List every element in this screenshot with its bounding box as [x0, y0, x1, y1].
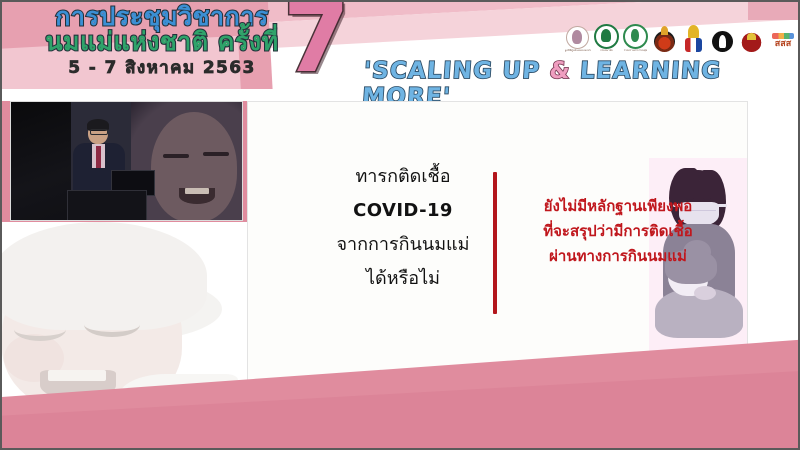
- tagline-prefix: 'SCALING UP: [363, 58, 550, 84]
- logo-black-seal: [710, 22, 735, 52]
- logo-caption: มูลนิธิศูนย์นมแม่แห่งประเทศไทย: [565, 49, 591, 52]
- logo-caption: กระทรวงสาธารณสุข: [623, 49, 649, 52]
- speaker-video-still[interactable]: [10, 101, 243, 221]
- slide-screenshot: การประชุมวิชาการ นมแม่แห่งชาติ ครั้งที่ …: [0, 0, 800, 450]
- logo-thaihealth-sss: สสส: [768, 22, 798, 52]
- royal-thai-emblem-icon: [683, 31, 704, 52]
- answer-text-block: ยังไม่มีหลักฐานเพียงพอ ที่จะสรุปว่ามีการ…: [503, 194, 733, 269]
- red-seal-icon: [741, 31, 762, 52]
- video-projected-baby-eye-left: [163, 154, 189, 158]
- conference-tagline: 'SCALING UP & LEARNING MORE': [361, 58, 800, 101]
- conference-title-line2: นมแม่แห่งชาติ ครั้งที่: [12, 28, 312, 55]
- question-line-2: COVID-19: [308, 194, 498, 228]
- video-projected-baby-teeth: [185, 188, 209, 194]
- thaihealth-label: สสส: [769, 40, 797, 49]
- video-speaker-glasses: [90, 129, 108, 135]
- ministry-health-icon: [594, 24, 619, 49]
- black-seal-icon: [712, 31, 733, 52]
- question-line-4: ได้หรือไม่: [308, 262, 498, 296]
- question-line-1: ทารกติดเชื้อ: [308, 160, 498, 194]
- video-speaker-tie: [96, 146, 101, 168]
- top-right-pink-corner: [748, 0, 800, 20]
- illustration-hand: [694, 286, 716, 300]
- logo-thai-breastfeeding-foundation: มูลนิธิศูนย์นมแม่แห่งประเทศไทย: [565, 22, 590, 52]
- logo-department-of-health: กระทรวงสาธารณสุข: [623, 22, 648, 52]
- thaihealth-icon: สสส: [769, 33, 797, 52]
- video-projected-baby-eye-right: [203, 152, 229, 156]
- video-podium: [67, 190, 147, 221]
- conference-header-banner: การประชุมวิชาการ นมแม่แห่งชาติ ครั้งที่ …: [0, 0, 800, 101]
- answer-line-3: ผ่านทางการกินนมแม่: [503, 244, 733, 269]
- conference-title: การประชุมวิชาการ นมแม่แห่งชาติ ครั้งที่ …: [12, 4, 312, 79]
- tagline-ampersand: &: [549, 58, 572, 84]
- logo-caption: กรมอนามัย: [594, 49, 620, 52]
- logo-red-seal: [739, 22, 764, 52]
- bottom-pink-bar: [0, 430, 800, 450]
- answer-line-1: ยังไม่มีหลักฐานเพียงพอ: [503, 194, 733, 219]
- logo-royal-emblem-red: [652, 22, 677, 52]
- question-line-3: จากการกินนมแม่: [308, 228, 498, 262]
- logo-ministry-of-public-health: กรมอนามัย: [594, 22, 619, 52]
- question-text-block: ทารกติดเชื้อ COVID-19 จากการกินนมแม่ ได้…: [308, 160, 498, 296]
- royal-emblem-red-icon: [654, 31, 675, 52]
- sponsor-logo-row: มูลนิธิศูนย์นมแม่แห่งประเทศไทย กรมอนามัย…: [565, 22, 798, 52]
- department-health-icon: [623, 24, 648, 49]
- logo-royal-thai-emblem: [681, 22, 706, 52]
- vertical-red-divider: [493, 172, 497, 314]
- conference-date: 5 - 7 สิงหาคม 2563: [12, 57, 312, 79]
- conference-edition-number: 7: [283, 0, 350, 86]
- video-projected-baby-face: [151, 112, 237, 221]
- breastfeeding-foundation-icon: [566, 26, 589, 49]
- answer-line-2: ที่จะสรุปว่ามีการติดเชื้อ: [503, 219, 733, 244]
